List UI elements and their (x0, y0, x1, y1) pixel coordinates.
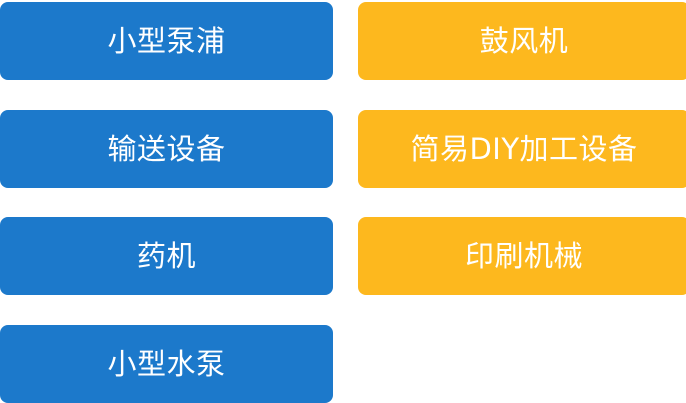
category-button-label: 小型泵浦 (107, 27, 225, 56)
category-button-blower[interactable]: 鼓风机 (358, 2, 686, 80)
category-button-label: 输送设备 (107, 135, 225, 164)
category-button-label: 印刷机械 (465, 242, 583, 271)
category-button-small-pump[interactable]: 小型泵浦 (0, 2, 333, 80)
category-button-label: 小型水泵 (107, 350, 225, 379)
category-button-conveying-equipment[interactable]: 输送设备 (0, 110, 333, 188)
category-button-label: 简易DIY加工设备 (410, 135, 637, 164)
category-button-label: 鼓风机 (480, 27, 569, 56)
category-button-printing-machinery[interactable]: 印刷机械 (358, 217, 686, 295)
category-button-simple-diy-processing-equipment[interactable]: 简易DIY加工设备 (358, 110, 686, 188)
category-button-label: 药机 (137, 242, 196, 271)
category-button-pharma-machine[interactable]: 药机 (0, 217, 333, 295)
category-button-small-water-pump[interactable]: 小型水泵 (0, 325, 333, 403)
category-button-grid: 小型泵浦 输送设备 药机 小型水泵 鼓风机 简易DIY加工设备 印刷机械 (0, 0, 686, 403)
